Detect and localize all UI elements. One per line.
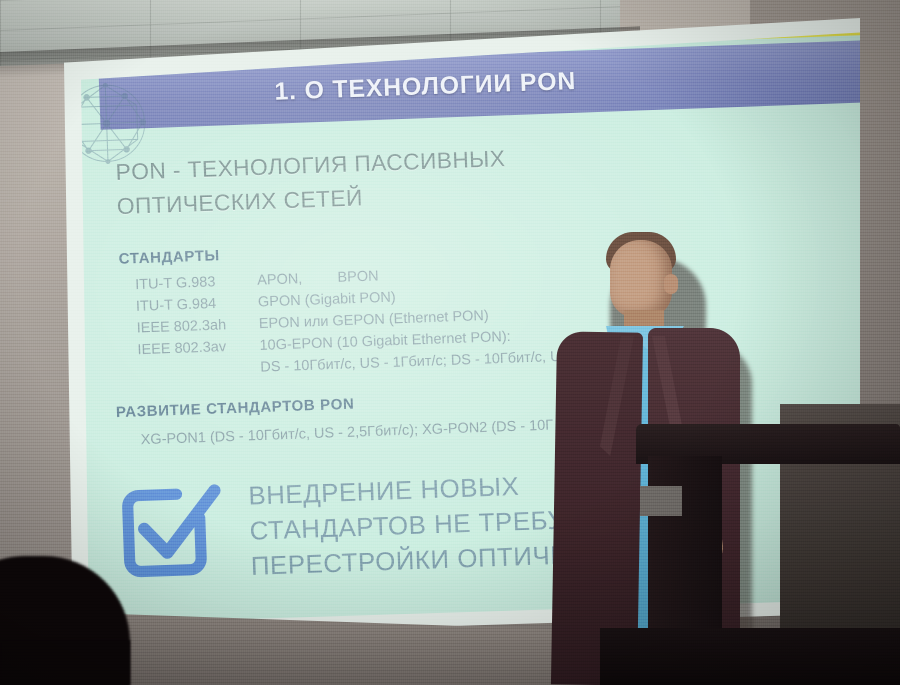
- podium-base: [600, 628, 900, 685]
- presenter-ear: [664, 274, 678, 294]
- standard-value-b: BPON: [337, 267, 379, 285]
- development-heading: РАЗВИТИЕ СТАНДАРТОВ PON: [116, 396, 355, 421]
- podium-plate: [640, 486, 682, 516]
- checkbox-checked-icon: [111, 472, 227, 588]
- presenter-head: [610, 240, 672, 318]
- standard-value-a: APON,: [257, 270, 303, 288]
- standards-heading: СТАНДАРТЫ: [118, 248, 220, 268]
- slide-headline: PON - ТЕХНОЛОГИЯ ПАССИВНЫХ ОПТИЧЕСКИХ СЕ…: [115, 135, 676, 223]
- presentation-photo-scene: 1. О ТЕХНОЛОГИИ PON: [0, 0, 900, 685]
- standard-key: IEEE 802.3av: [137, 334, 260, 360]
- foreground-shadow: [0, 640, 130, 685]
- value-gap: [302, 282, 337, 283]
